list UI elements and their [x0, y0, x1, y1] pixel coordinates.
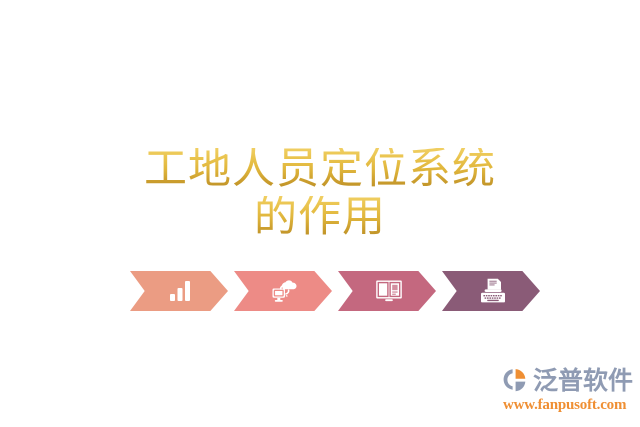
chevron-step-3[interactable]	[338, 271, 436, 311]
title-line-1: 工地人员定位系统	[0, 148, 640, 192]
open-book-icon	[375, 279, 403, 303]
typewriter-icon	[479, 278, 507, 304]
brand-logo: 泛普软件 www.fanpusoft.com	[502, 366, 638, 416]
chevron-step-4[interactable]	[442, 271, 540, 311]
cloud-computing-icon	[271, 278, 299, 304]
page-title: 工地人员定位系统 的作用	[0, 148, 640, 240]
fanpu-logo-mark-icon	[502, 368, 531, 395]
bar-chart-icon	[168, 279, 194, 303]
chevron-step-1[interactable]	[130, 271, 228, 311]
slide-canvas: 工地人员定位系统 的作用	[0, 0, 640, 427]
chevron-step-2[interactable]	[234, 271, 332, 311]
logo-row: 泛普软件	[502, 366, 638, 396]
brand-url: www.fanpusoft.com	[503, 397, 638, 414]
chevron-banner	[130, 271, 540, 311]
title-line-2: 的作用	[0, 196, 640, 240]
brand-name: 泛普软件	[533, 368, 633, 395]
